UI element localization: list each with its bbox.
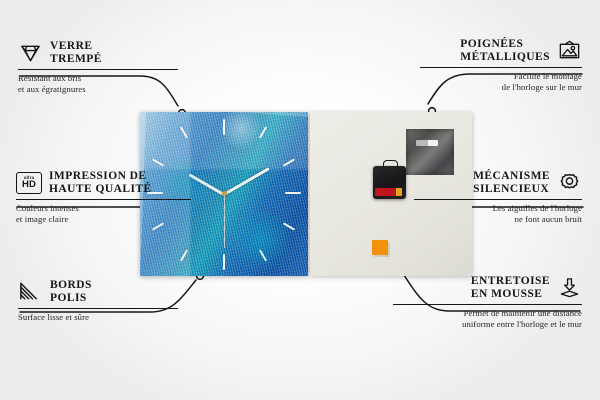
callout-rule <box>414 199 582 200</box>
callout-title: IMPRESSION DE HAUTE QUALITÉ <box>49 170 152 196</box>
polished-edge-icon <box>18 281 43 303</box>
callout-rule <box>16 199 191 200</box>
diamond-icon <box>18 42 43 64</box>
press-down-pad-icon <box>557 277 582 299</box>
callout-bords-polis: BORDS POLIS Surface lisse et sûre <box>18 279 203 323</box>
picture-frame-hanger-icon <box>557 40 582 62</box>
callout-mecanisme-silencieux: MÉCANISME SILENCIEUX Les aiguilles de l'… <box>393 170 582 224</box>
callout-title: VERRE TREMPÉ <box>50 40 102 66</box>
callout-rule <box>18 308 178 309</box>
callout-entretoise-en-mousse: ENTRETOISE EN MOUSSE Permet de maintenir… <box>393 275 582 329</box>
hanger-plate <box>406 129 454 175</box>
callout-description: Surface lisse et sûre <box>18 312 203 323</box>
callout-title: ENTRETOISE EN MOUSSE <box>471 275 550 301</box>
infographic-canvas: VERRE TREMPÉ Résistant aux bris et aux é… <box>0 0 600 400</box>
movement-hook <box>383 160 398 169</box>
callout-rule <box>393 304 582 305</box>
callout-title: BORDS POLIS <box>50 279 92 305</box>
callout-description: Facilite le montage de l'horloge sur le … <box>395 71 582 92</box>
callout-rule <box>420 67 582 68</box>
callout-poignees-metalliques: POIGNÉES MÉTALLIQUES Facilite le montage… <box>395 38 582 92</box>
clock-hand-cap <box>222 191 227 196</box>
callout-description: Résistant aux bris et aux égratignures <box>18 73 203 94</box>
clock-hand-minute <box>223 167 270 196</box>
clock-hand-second <box>224 193 225 248</box>
ultra-hd-badge-icon: ultraHD <box>16 172 42 194</box>
callout-description: Couleurs intenses et image claire <box>16 203 206 224</box>
callout-impression-haute-qualite: ultraHD IMPRESSION DE HAUTE QUALITÉ Coul… <box>16 170 206 224</box>
callout-description: Permet de maintenir une distance uniform… <box>393 308 582 329</box>
foam-spacer <box>372 240 388 255</box>
callout-verre-trempe: VERRE TREMPÉ Résistant aux bris et aux é… <box>18 40 203 94</box>
callout-title: MÉCANISME SILENCIEUX <box>473 170 550 196</box>
gear-icon <box>557 172 582 194</box>
callout-description: Les aiguilles de l'horloge ne font aucun… <box>393 203 582 224</box>
hanger-slot <box>416 140 438 146</box>
callout-rule <box>18 69 178 70</box>
callout-title: POIGNÉES MÉTALLIQUES <box>460 38 550 64</box>
